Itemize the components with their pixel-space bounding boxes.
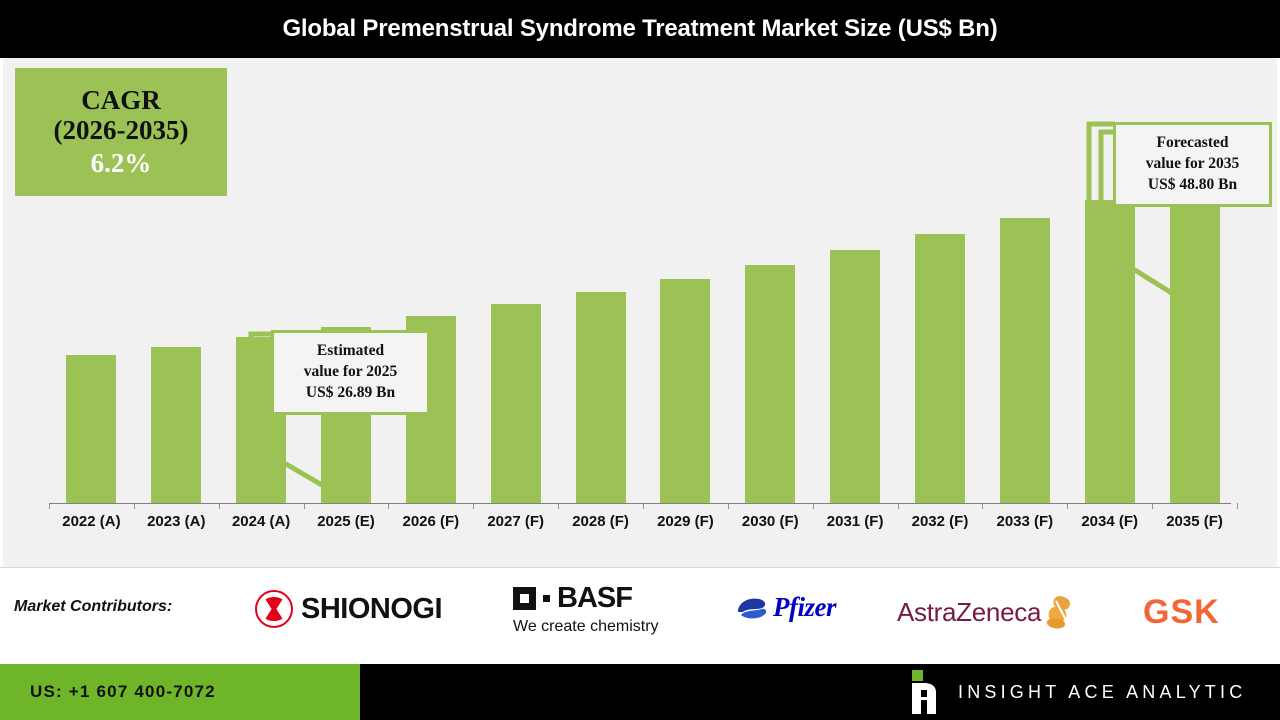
bar-2023: [151, 347, 201, 503]
bar-2033: [1000, 218, 1050, 503]
market-contributors-label: Market Contributors:: [14, 598, 172, 616]
bar-2031: [830, 250, 880, 503]
logo-pfizer: Pfizer: [735, 592, 836, 623]
page-title: Global Premenstrual Syndrome Treatment M…: [282, 15, 997, 43]
brand-name: INSIGHT ACE ANALYTIC: [958, 682, 1246, 703]
logo-shionogi: SHIONOGI: [255, 590, 442, 628]
brand-lockup: INSIGHT ACE ANALYTIC: [900, 664, 1246, 720]
x-label-2023: 2023 (A): [134, 513, 219, 530]
basf-row: BASF: [513, 582, 632, 615]
callout-estimated-line2: value for 2025: [284, 362, 417, 383]
x-label-2022: 2022 (A): [49, 513, 134, 530]
x-label-2029: 2029 (F): [643, 513, 728, 530]
gsk-wordmark: GSK: [1143, 593, 1220, 632]
pfizer-mark-icon: [735, 595, 769, 621]
x-label-2027: 2027 (F): [473, 513, 558, 530]
x-label-2034: 2034 (F): [1067, 513, 1152, 530]
x-tick: [982, 503, 983, 509]
callout-forecasted-line3: US$ 48.80 Bn: [1126, 175, 1259, 196]
callout-forecasted-line2: value for 2035: [1126, 154, 1259, 175]
x-label-2024: 2024 (A): [219, 513, 304, 530]
shionogi-mark-icon: [255, 590, 293, 628]
market-contributors-strip: Market Contributors: SHIONOGI BASF We cr…: [0, 567, 1280, 664]
x-tick: [1237, 503, 1238, 509]
x-label-2033: 2033 (F): [982, 513, 1067, 530]
x-tick: [558, 503, 559, 509]
callout-estimated-line3: US$ 26.89 Bn: [284, 383, 417, 404]
callout-estimated-2025: Estimated value for 2025 US$ 26.89 Bn: [271, 330, 430, 415]
bar-2032: [915, 234, 965, 503]
basf-wordmark: BASF: [557, 582, 632, 615]
x-label-2030: 2030 (F): [728, 513, 813, 530]
astrazeneca-swirl-icon: [1038, 593, 1076, 631]
x-tick: [643, 503, 644, 509]
shionogi-wordmark: SHIONOGI: [301, 593, 442, 626]
x-tick: [898, 503, 899, 509]
logo-basf: BASF We create chemistry: [513, 582, 659, 636]
chart-area: CAGR (2026-2035) 6.2% 2022 (A)2023 (A)20…: [0, 58, 1280, 567]
x-tick: [728, 503, 729, 509]
x-label-2026: 2026 (F): [388, 513, 473, 530]
bar-2029: [660, 279, 710, 503]
callout-forecasted-2035: Forecasted value for 2035 US$ 48.80 Bn: [1113, 122, 1272, 207]
x-tick: [1067, 503, 1068, 509]
x-tick: [304, 503, 305, 509]
bar-2030: [745, 265, 795, 503]
x-tick: [49, 503, 50, 509]
contact-phone[interactable]: US: +1 607 400-7072: [30, 682, 216, 702]
bar-2022: [66, 355, 116, 503]
x-label-2032: 2032 (F): [898, 513, 983, 530]
pfizer-wordmark: Pfizer: [773, 592, 836, 623]
callout-estimated-line1: Estimated: [284, 341, 417, 362]
x-label-2031: 2031 (F): [813, 513, 898, 530]
x-tick: [134, 503, 135, 509]
x-label-2035: 2035 (F): [1152, 513, 1237, 530]
basf-square-icon: [513, 587, 536, 610]
astrazeneca-wordmark: AstraZeneca: [897, 597, 1041, 628]
x-tick: [219, 503, 220, 509]
bar-2027: [491, 304, 541, 503]
bar-2028: [576, 292, 626, 503]
logo-gsk: GSK: [1143, 593, 1220, 632]
insightace-a-logo-icon: [900, 670, 940, 714]
basf-tagline: We create chemistry: [513, 618, 659, 636]
callout-forecasted-line1: Forecasted: [1126, 133, 1259, 154]
x-axis-labels: 2022 (A)2023 (A)2024 (A)2025 (E)2026 (F)…: [49, 513, 1231, 541]
footer-bar: US: +1 607 400-7072 INSIGHT ACE ANALYTIC: [0, 664, 1280, 720]
x-tick: [813, 503, 814, 509]
title-bar: Global Premenstrual Syndrome Treatment M…: [0, 0, 1280, 58]
plot-area: [49, 58, 1231, 503]
x-tick: [388, 503, 389, 509]
basf-dot-icon: [543, 595, 550, 602]
x-tick: [473, 503, 474, 509]
footer-contact-band: US: +1 607 400-7072: [0, 664, 360, 720]
x-tick: [1152, 503, 1153, 509]
logo-astrazeneca: AstraZeneca: [897, 593, 1076, 631]
x-label-2025: 2025 (E): [304, 513, 389, 530]
x-axis-line: [49, 503, 1231, 504]
x-label-2028: 2028 (F): [558, 513, 643, 530]
